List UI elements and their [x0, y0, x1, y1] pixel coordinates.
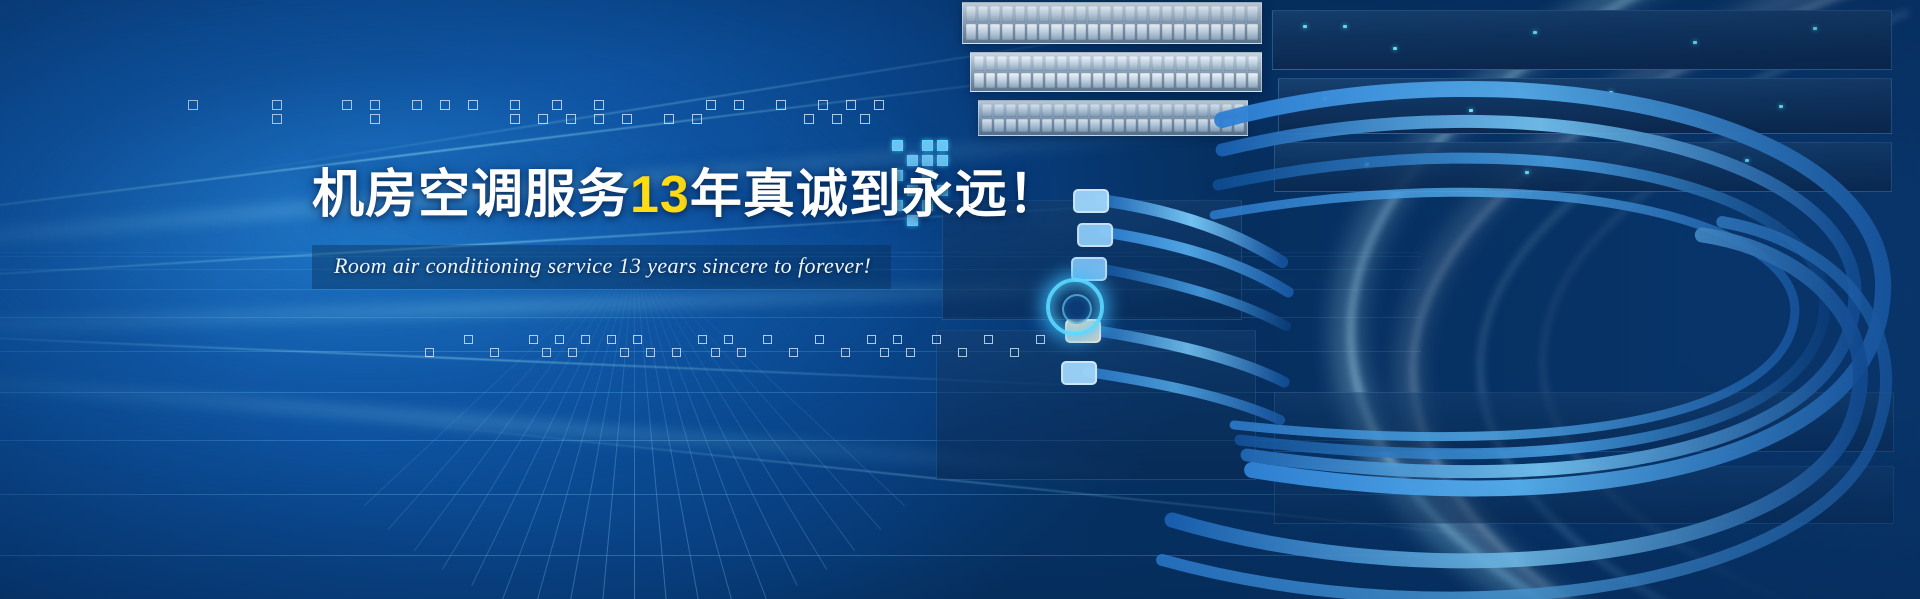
headline-punctuation: ！ [1008, 166, 1060, 224]
headline-part-1: 机房空调服务 [312, 166, 630, 224]
banner-subtitle: Room air conditioning service 13 years s… [334, 254, 871, 278]
fiber-ring-glow [1046, 278, 1104, 336]
headline-highlight-number: 13 [630, 166, 690, 224]
hero-banner: 机房空调服务13年真诚到永远！ Room air conditioning se… [0, 0, 1920, 599]
page-title: 机房空调服务13年真诚到永远！ [312, 168, 932, 223]
banner-copy: 机房空调服务13年真诚到永远！ Room air conditioning se… [312, 168, 932, 289]
headline-part-2: 年真诚到永远 [690, 166, 1008, 224]
subtitle-box: Room air conditioning service 13 years s… [312, 245, 891, 289]
